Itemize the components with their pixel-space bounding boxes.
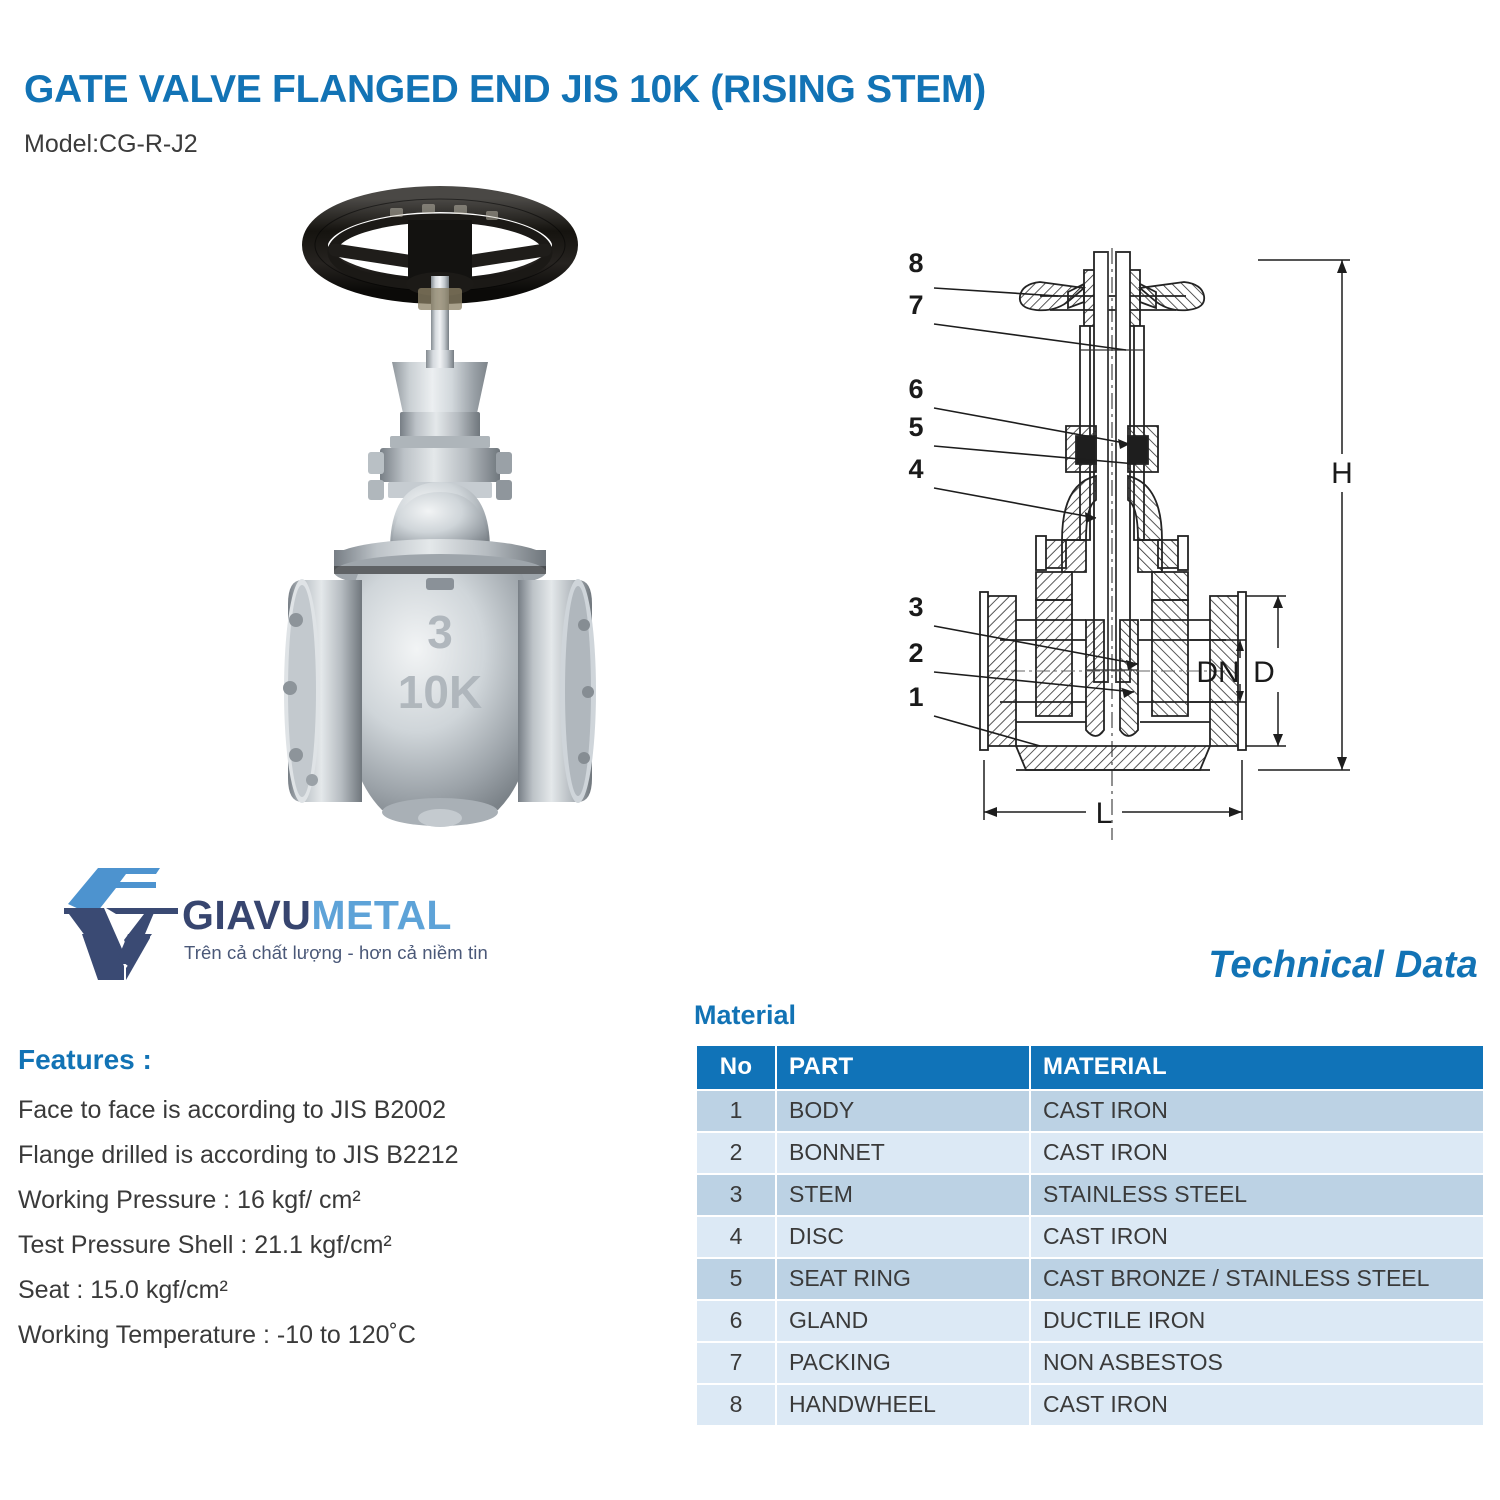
feature-item: Working Pressure : 16 kgf/ cm² [18, 1178, 678, 1223]
table-row: 1 BODY CAST IRON [697, 1091, 1483, 1131]
cast-rating-marking: 10K [398, 666, 482, 718]
giavumetal-logo-mark [60, 862, 182, 984]
table-row: 6 GLAND DUCTILE IRON [697, 1301, 1483, 1341]
drawing-disc [1086, 620, 1104, 736]
material-title: Material [694, 1000, 796, 1031]
cell-part: BODY [777, 1091, 1029, 1131]
logo-tagline: Trên cả chất lượng - hơn cả niềm tin [184, 942, 488, 964]
cell-material: DUCTILE IRON [1031, 1301, 1483, 1341]
drawing-body [1036, 600, 1072, 716]
cell-no: 4 [697, 1217, 775, 1257]
cross-section-drawing: 8 7 6 5 4 3 2 1 H DN D L [890, 240, 1490, 860]
table-row: 2 BONNET CAST IRON [697, 1133, 1483, 1173]
features-section: Features : Face to face is according to … [18, 1044, 678, 1358]
column-header-no: No [697, 1046, 775, 1089]
material-table: No PART MATERIAL 1 BODY CAST IRON 2 BONN… [695, 1044, 1485, 1427]
feature-item: Working Temperature : -10 to 120˚C [18, 1313, 678, 1358]
gate-valve-illustration: 3 10K [240, 180, 640, 860]
feature-item: Face to face is according to JIS B2002 [18, 1088, 678, 1133]
dimension-label-DN: DN [1196, 656, 1239, 689]
callout-6: 6 [908, 374, 923, 404]
cell-no: 6 [697, 1301, 775, 1341]
features-list: Face to face is according to JIS B2002 F… [18, 1088, 678, 1358]
callout-1: 1 [908, 682, 923, 712]
company-logo: GIAVUMETAL Trên cả chất lượng - hơn cả n… [60, 858, 480, 988]
logo-wordmark: GIAVUMETAL [182, 892, 452, 939]
cell-material: CAST BRONZE / STAINLESS STEEL [1031, 1259, 1483, 1299]
table-header-row: No PART MATERIAL [697, 1046, 1483, 1089]
material-table-body: 1 BODY CAST IRON 2 BONNET CAST IRON 3 ST… [697, 1091, 1483, 1425]
cast-size-marking: 3 [427, 606, 453, 658]
cell-part: SEAT RING [777, 1259, 1029, 1299]
table-row: 5 SEAT RING CAST BRONZE / STAINLESS STEE… [697, 1259, 1483, 1299]
callout-8: 8 [908, 248, 923, 278]
feature-item: Test Pressure Shell : 21.1 kgf/cm² [18, 1223, 678, 1268]
valve-section-svg: 8 7 6 5 4 3 2 1 H DN D L [890, 240, 1490, 860]
dimension-label-D: D [1253, 656, 1275, 689]
cell-material: CAST IRON [1031, 1091, 1483, 1131]
technical-data-title: Technical Data [1208, 944, 1478, 987]
callout-4: 4 [908, 454, 923, 484]
cell-material: CAST IRON [1031, 1133, 1483, 1173]
dimension-label-L: L [1096, 797, 1113, 830]
cell-no: 8 [697, 1385, 775, 1425]
callout-5: 5 [908, 412, 923, 442]
callout-3: 3 [908, 592, 923, 622]
product-photo: 3 10K [240, 180, 640, 860]
left-flange-photo [283, 579, 362, 803]
cell-material: CAST IRON [1031, 1385, 1483, 1425]
feature-item: Flange drilled is according to JIS B2212 [18, 1133, 678, 1178]
right-flange-photo [518, 579, 596, 803]
column-header-material: MATERIAL [1031, 1046, 1483, 1089]
yoke-photo [390, 350, 490, 448]
drawing-bonnet [1062, 476, 1096, 540]
dimension-H [1258, 260, 1350, 770]
callout-7: 7 [908, 290, 923, 320]
cell-part: PACKING [777, 1343, 1029, 1383]
cell-no: 2 [697, 1133, 775, 1173]
dimension-label-H: H [1331, 457, 1353, 490]
cell-no: 3 [697, 1175, 775, 1215]
cell-part: DISC [777, 1217, 1029, 1257]
features-title: Features : [18, 1044, 678, 1076]
cell-no: 5 [697, 1259, 775, 1299]
table-row: 7 PACKING NON ASBESTOS [697, 1343, 1483, 1383]
model-label: Model:CG-R-J2 [24, 130, 198, 159]
valve-body-photo: 3 10K [343, 574, 536, 827]
cell-part: STEM [777, 1175, 1029, 1215]
cell-part: HANDWHEEL [777, 1385, 1029, 1425]
cell-material: CAST IRON [1031, 1217, 1483, 1257]
logo-word-dark: GIAVU [182, 892, 311, 938]
feature-item: Seat : 15.0 kgf/cm² [18, 1268, 678, 1313]
cell-no: 7 [697, 1343, 775, 1383]
table-row: 8 HANDWHEEL CAST IRON [697, 1385, 1483, 1425]
cell-material: STAINLESS STEEL [1031, 1175, 1483, 1215]
cell-part: BONNET [777, 1133, 1029, 1173]
datasheet-page: GATE VALVE FLANGED END JIS 10K (RISING S… [0, 0, 1500, 1500]
logo-word-light: METAL [311, 892, 452, 938]
table-row: 4 DISC CAST IRON [697, 1217, 1483, 1257]
cell-material: NON ASBESTOS [1031, 1343, 1483, 1383]
column-header-part: PART [777, 1046, 1029, 1089]
callout-2: 2 [908, 638, 923, 668]
cell-no: 1 [697, 1091, 775, 1131]
cell-part: GLAND [777, 1301, 1029, 1341]
page-title: GATE VALVE FLANGED END JIS 10K (RISING S… [24, 68, 986, 112]
table-row: 3 STEM STAINLESS STEEL [697, 1175, 1483, 1215]
